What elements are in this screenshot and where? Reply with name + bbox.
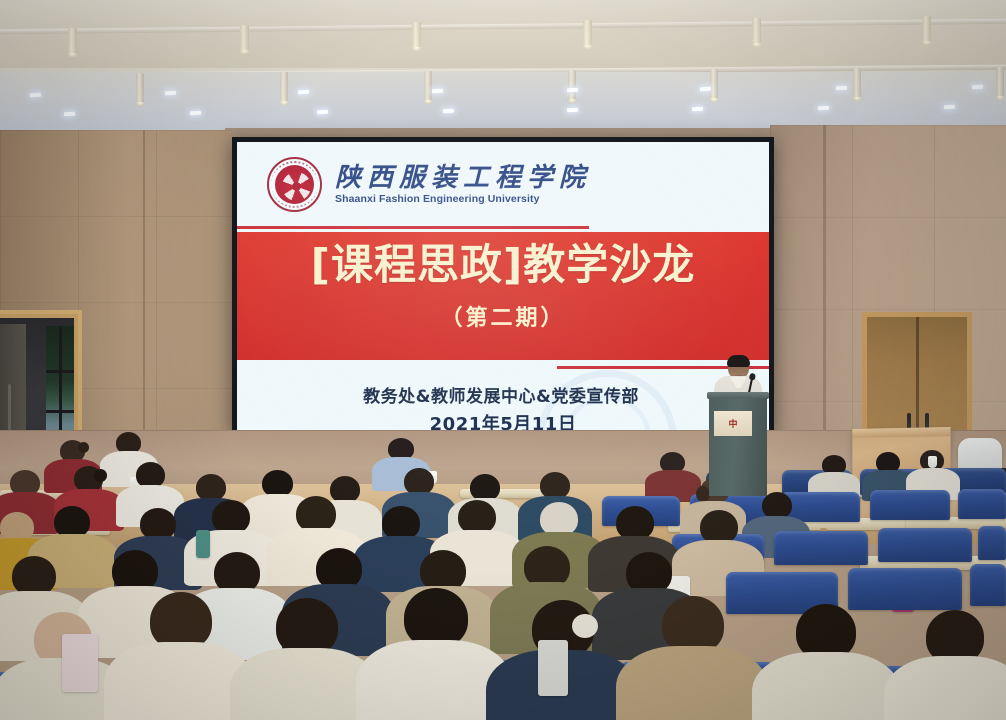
water-bottle (538, 640, 568, 696)
slide-subtitle: （第二期） (237, 300, 769, 332)
track-spotlight-icon (752, 18, 761, 44)
lectern-emblem-label: 中 (728, 417, 737, 430)
recessed-downlight-icon (944, 105, 955, 110)
track-spotlight-icon (68, 28, 77, 54)
seat[interactable] (870, 490, 950, 520)
track-spotlight-icon (710, 69, 718, 99)
recessed-downlight-icon (298, 90, 309, 95)
ceiling-upper-plane (0, 0, 1006, 70)
track-spotlight-icon (136, 73, 144, 103)
lectern-emblem-panel: 中 (714, 411, 752, 436)
lectern[interactable]: 中 (709, 392, 767, 496)
lectern-body: 中 (709, 398, 767, 496)
university-name-en: Shaanxi Fashion Engineering University (335, 193, 591, 205)
water-bottle (196, 530, 210, 558)
university-name-cn: 陕西服装工程学院 (335, 164, 591, 193)
slide-title: [课程思政]教学沙龙 (237, 242, 769, 288)
recessed-downlight-icon (190, 111, 201, 116)
university-crest-icon (267, 157, 322, 212)
cabinet-top (852, 427, 950, 438)
track-spotlight-icon (583, 20, 592, 46)
track-spotlight-icon (996, 67, 1004, 97)
seat[interactable] (958, 489, 1006, 519)
track-spotlight-icon (240, 25, 249, 51)
crest-core (292, 182, 301, 191)
recessed-downlight-icon (443, 109, 454, 114)
university-name-block: 陕西服装工程学院 Shaanxi Fashion Engineering Uni… (335, 164, 591, 206)
recessed-downlight-icon (64, 112, 75, 117)
recessed-downlight-icon (972, 85, 983, 90)
track-spotlight-icon (424, 71, 432, 101)
recessed-downlight-icon (567, 108, 578, 113)
recessed-downlight-icon (432, 89, 443, 94)
track-spotlight-icon (568, 70, 576, 100)
glasses-icon (729, 366, 748, 370)
track-spotlight-icon (412, 22, 421, 48)
track-spotlight-icon (853, 68, 861, 98)
seat[interactable] (848, 568, 962, 610)
recessed-downlight-icon (317, 110, 328, 115)
recessed-downlight-icon (165, 91, 176, 96)
recessed-downlight-icon (818, 106, 829, 111)
paper-cup (928, 456, 937, 468)
recessed-downlight-icon (692, 107, 703, 112)
seat[interactable] (878, 528, 972, 562)
seat[interactable] (774, 531, 868, 565)
seat[interactable] (970, 564, 1006, 606)
auditorium-scene: 陕西服装工程学院 Shaanxi Fashion Engineering Uni… (0, 0, 1006, 720)
water-bottle (62, 634, 98, 692)
slide-organizers: 教务处&教师发展中心&党委宣传部 (237, 382, 769, 407)
slide-date: 2021年5月11日 (237, 410, 769, 430)
seat[interactable] (978, 526, 1006, 560)
track-spotlight-icon (922, 16, 931, 42)
recessed-downlight-icon (700, 87, 711, 92)
recessed-downlight-icon (567, 88, 578, 93)
door-handle-icon[interactable] (8, 384, 11, 436)
slide-header: 陕西服装工程学院 Shaanxi Fashion Engineering Uni… (237, 142, 769, 227)
recessed-downlight-icon (30, 93, 41, 98)
presentation-slide: 陕西服装工程学院 Shaanxi Fashion Engineering Uni… (237, 142, 769, 430)
recessed-downlight-icon (836, 86, 847, 91)
projection-screen[interactable]: 陕西服装工程学院 Shaanxi Fashion Engineering Uni… (232, 137, 774, 435)
slide-rule-top (237, 226, 589, 229)
track-spotlight-icon (280, 72, 288, 102)
